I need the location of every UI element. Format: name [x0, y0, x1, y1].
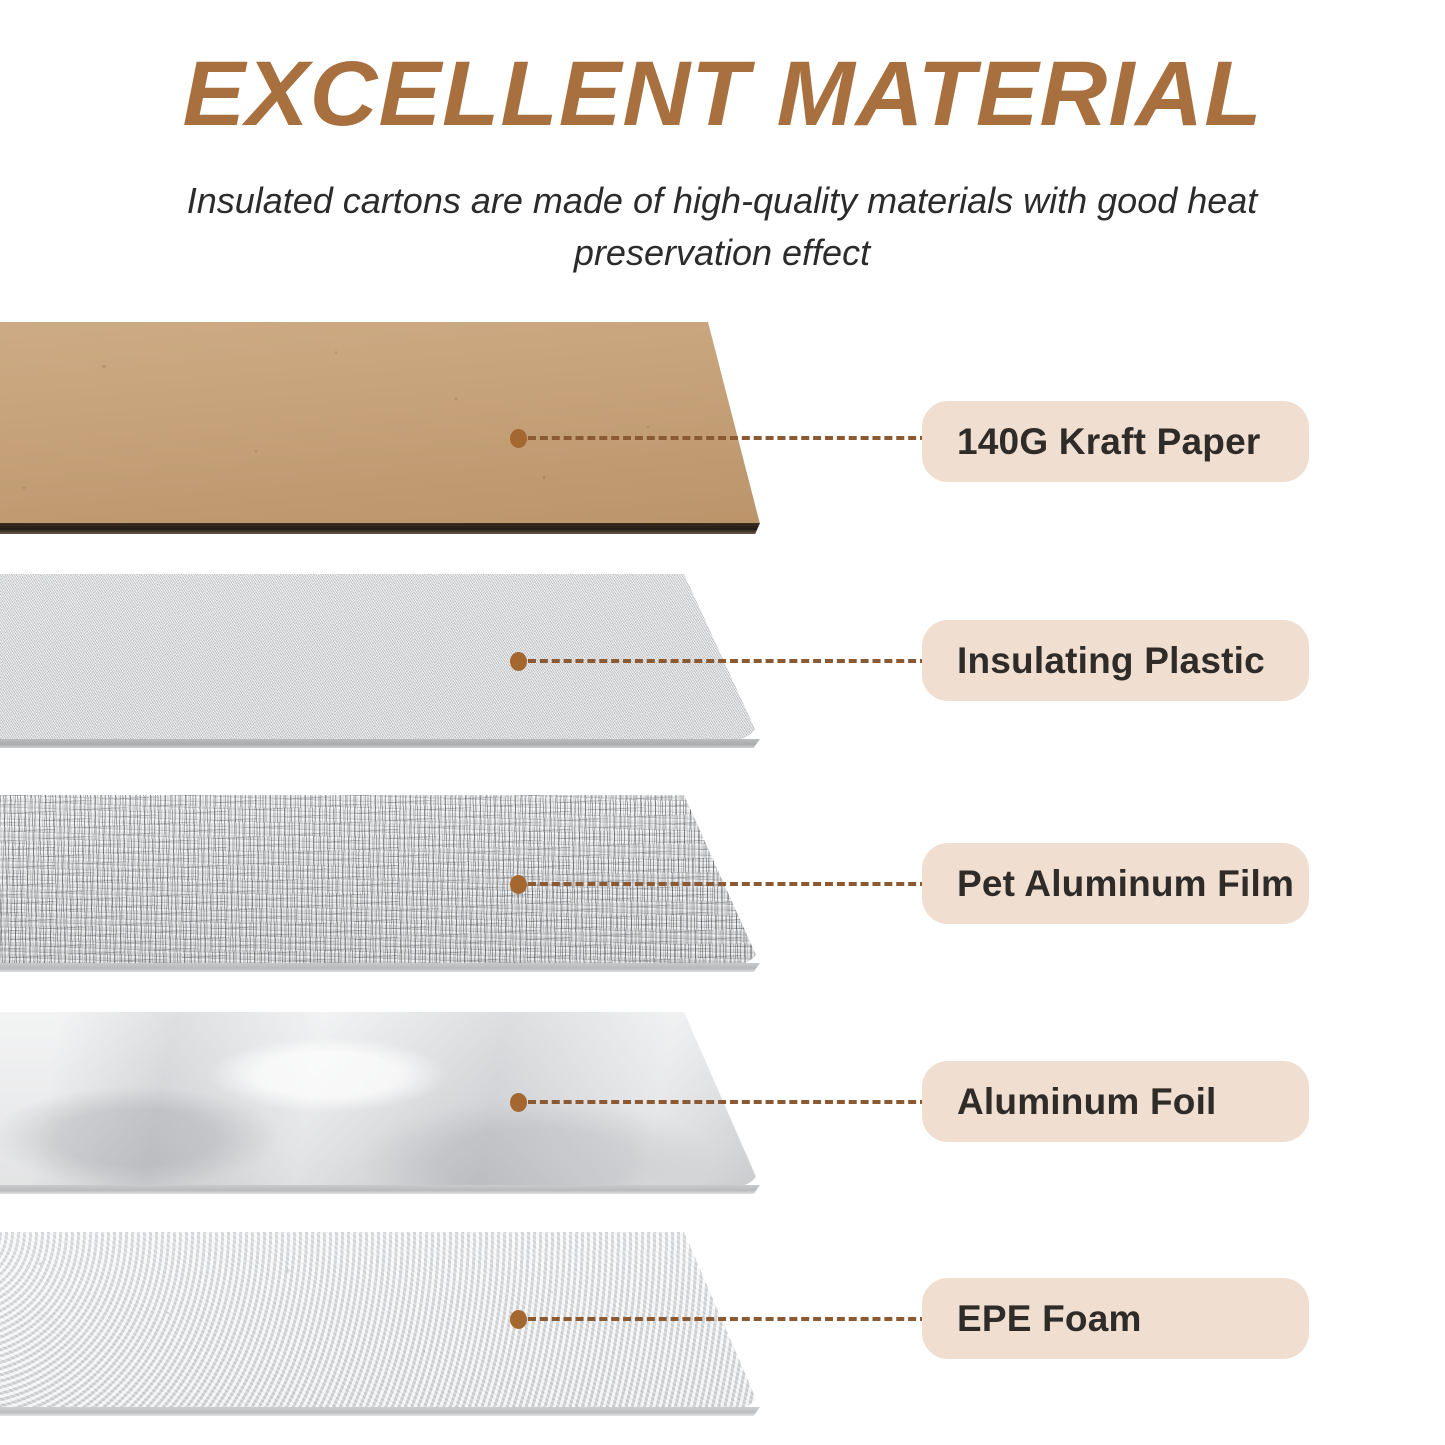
- label-pill-epe-foam[interactable]: EPE Foam: [922, 1278, 1309, 1359]
- connector-dashed-line: [528, 436, 928, 440]
- connector-dashed-line: [528, 1100, 928, 1104]
- label-text: 140G Kraft Paper: [957, 421, 1260, 463]
- label-text: Aluminum Foil: [957, 1081, 1217, 1123]
- connector-dashed-line: [528, 659, 928, 663]
- connector-aluminum-foil: [510, 1086, 930, 1116]
- connector-insulating-plastic: [510, 645, 930, 675]
- connector-epe-foam: [510, 1303, 930, 1333]
- connector-dot-icon: [510, 429, 527, 448]
- connector-dashed-line: [528, 882, 928, 886]
- epe-foam-edge: [0, 1407, 760, 1416]
- page-title: EXCELLENT MATERIAL: [0, 46, 1445, 142]
- label-pill-aluminum-foil[interactable]: Aluminum Foil: [922, 1061, 1309, 1142]
- connector-pet-aluminum-film: [510, 868, 930, 898]
- aluminum-foil-edge: [0, 1185, 760, 1194]
- label-text: EPE Foam: [957, 1298, 1142, 1340]
- label-pill-kraft-paper[interactable]: 140G Kraft Paper: [922, 401, 1309, 482]
- connector-dashed-line: [528, 1317, 928, 1321]
- connector-kraft-paper: [510, 422, 930, 452]
- connector-dot-icon: [510, 1310, 527, 1329]
- label-pill-pet-aluminum-film[interactable]: Pet Aluminum Film: [922, 843, 1309, 924]
- label-text: Pet Aluminum Film: [957, 863, 1294, 905]
- connector-dot-icon: [510, 875, 527, 894]
- label-pill-insulating-plastic[interactable]: Insulating Plastic: [922, 620, 1309, 701]
- connector-dot-icon: [510, 652, 527, 671]
- connector-dot-icon: [510, 1093, 527, 1112]
- header: EXCELLENT MATERIAL Insulated cartons are…: [0, 0, 1445, 300]
- page-subtitle: Insulated cartons are made of high-quali…: [172, 175, 1272, 279]
- insulating-plastic-edge: [0, 739, 760, 748]
- kraft-paper-edge: [0, 523, 760, 534]
- label-text: Insulating Plastic: [957, 640, 1265, 682]
- infographic-page: EXCELLENT MATERIAL Insulated cartons are…: [0, 0, 1445, 1445]
- pet-aluminum-film-edge: [0, 963, 760, 972]
